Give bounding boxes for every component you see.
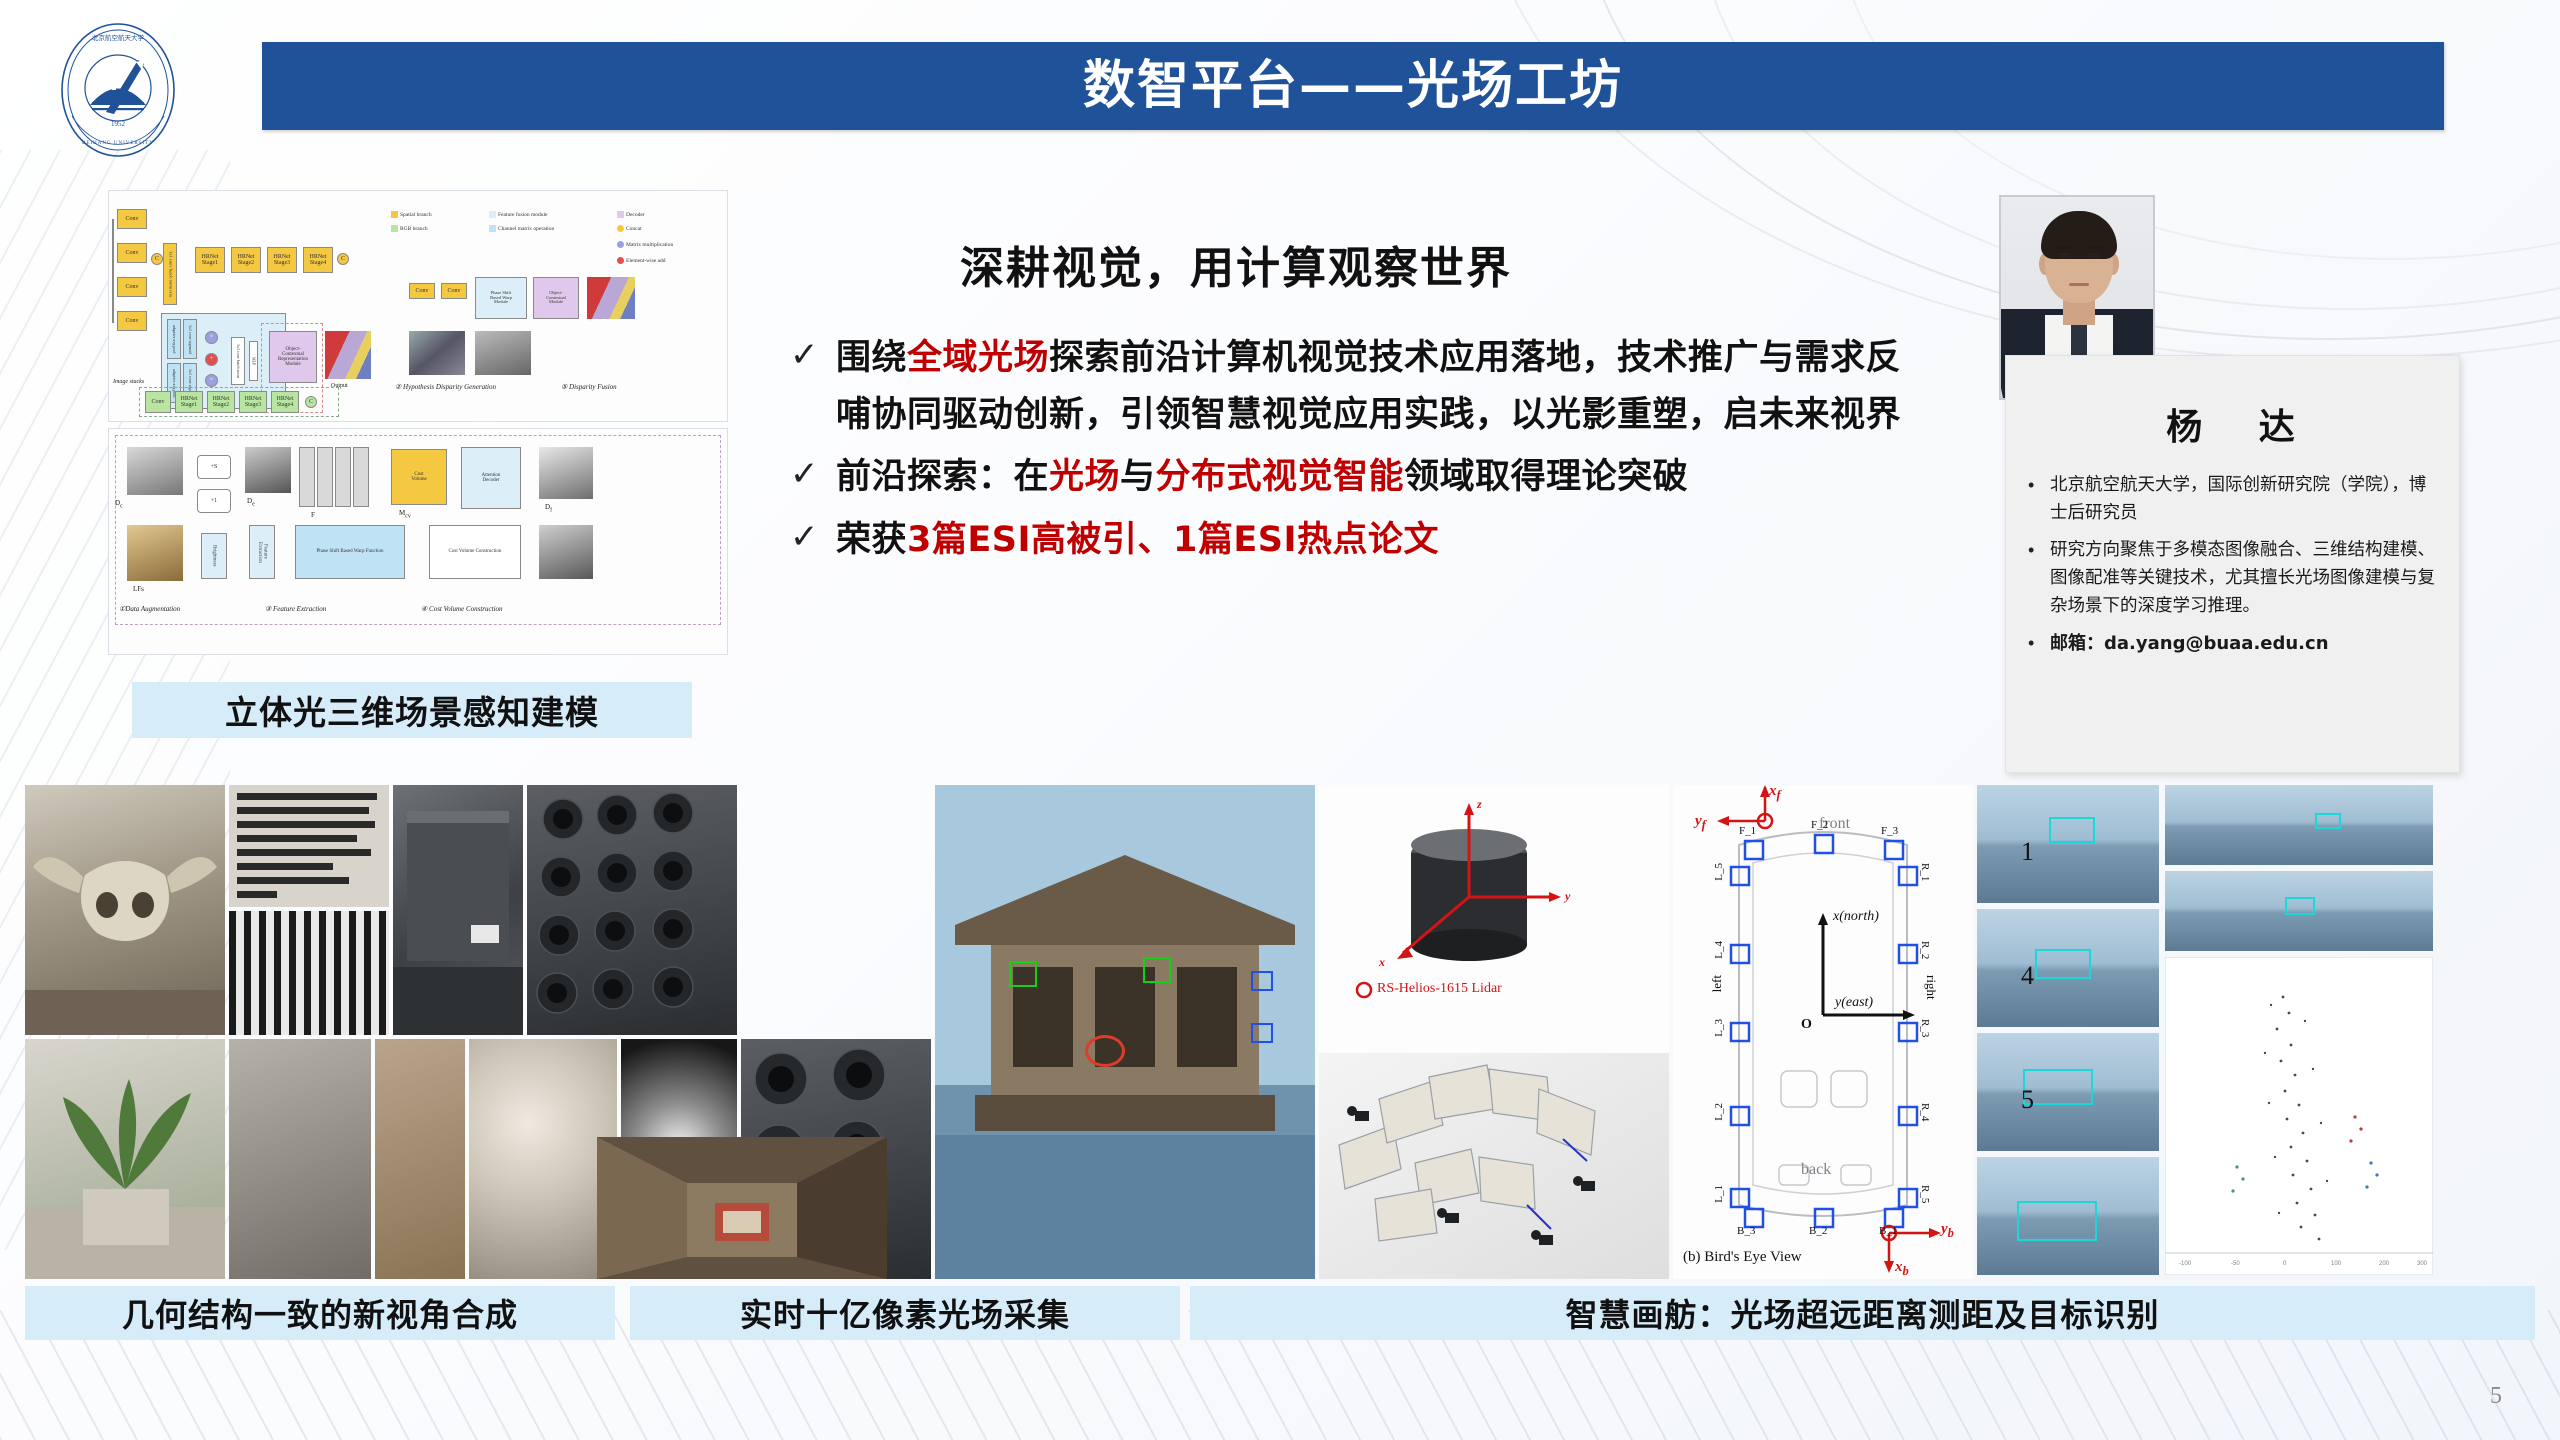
- highlight-text: 全域光场: [907, 338, 1049, 378]
- photo-detection-result-5: [1977, 1033, 2159, 1151]
- slide-root: 1952 北京航空航天大学 BEIHANG UNIVERSITY 数智平台——光…: [0, 0, 2560, 1440]
- highlight-text: 分布式视觉智能: [1156, 457, 1405, 497]
- bullet-text: 荣获3篇ESI高被引、1篇ESI热点论文: [836, 512, 1439, 569]
- photo-wood-grain: [375, 1039, 465, 1279]
- plain-text: 与: [1120, 457, 1156, 497]
- buaa-university-logo: 1952 北京航空航天大学 BEIHANG UNIVERSITY: [48, 20, 188, 160]
- plain-text: 前沿探索：在: [836, 457, 1049, 497]
- profile-detail-text: 研究方向聚焦于多模态图像融合、三维结构建模、图像配准等关键技术，尤其擅长光场图像…: [2050, 537, 2437, 620]
- plain-text: 围绕: [836, 338, 907, 378]
- page-number: 5: [2490, 1383, 2502, 1410]
- photo-boat-pavilion: [935, 785, 1315, 1279]
- photo-text-page: [229, 785, 389, 907]
- photo-room-view: [597, 1137, 887, 1279]
- bullet-dot-icon: •: [2028, 630, 2050, 658]
- profile-detail-text: 邮箱：da.yang@buaa.edu.cn: [2050, 630, 2329, 658]
- sensor-caption-b: (b) Bird's Eye View: [1683, 1249, 1802, 1266]
- svg-text:200: 200: [2379, 1261, 2390, 1267]
- svg-text:北京航空航天大学: 北京航空航天大学: [92, 33, 145, 42]
- profile-detail-text: 北京航空航天大学，国际创新研究院（学院），博士后研究员: [2050, 472, 2437, 527]
- caption-novel-view-synthesis: 几何结构一致的新视角合成: [25, 1286, 615, 1340]
- photo-equipment-box: [393, 785, 523, 1035]
- bullet-text: 前沿探索：在光场与分布式视觉智能领域取得理论突破: [836, 449, 1688, 506]
- svg-text:-100: -100: [2179, 1261, 2192, 1267]
- section-label-3d-modeling: 立体光三维场景感知建模: [132, 682, 692, 738]
- profile-detail-item: •邮箱：da.yang@buaa.edu.cn: [2028, 630, 2437, 658]
- diagram-hypothesis-disparity: Conv Conv Conv Conv 1x1 conv batch norm …: [108, 190, 728, 422]
- highlight-text: 3篇ESI高被引、1篇ESI热点论文: [907, 520, 1439, 560]
- photo-detection-result-3: [2165, 871, 2433, 951]
- caption-gigapixel-capture: 实时十亿像素光场采集: [630, 1286, 1180, 1340]
- photo-museum-skull: [25, 785, 225, 1035]
- check-icon: ✓: [790, 449, 836, 500]
- decor-arc-4: [1840, 0, 2560, 260]
- bullet-dot-icon: •: [2028, 472, 2050, 527]
- result-row-label-5: 5: [2021, 1085, 2034, 1115]
- photo-camera-array-1: [527, 785, 737, 1035]
- check-icon: ✓: [790, 512, 836, 563]
- result-row-label-4: 4: [2021, 961, 2034, 991]
- profile-detail-item: •北京航空航天大学，国际创新研究院（学院），博士后研究员: [2028, 472, 2437, 527]
- network-diagram-panel: Conv Conv Conv Conv 1x1 conv batch norm …: [108, 190, 728, 655]
- plain-text: 荣获: [836, 520, 907, 560]
- bullet-item: ✓前沿探索：在光场与分布式视觉智能领域取得理论突破: [790, 449, 1920, 506]
- plain-text: 领域取得理论突破: [1404, 457, 1688, 497]
- content-headline: 深耕视觉，用计算观察世界: [960, 232, 1512, 296]
- slide-title-bar: 数智平台——光场工坊: [262, 42, 2444, 130]
- diagram-cost-volume: Dc LFs +S +1 Brightness De FeatureExtrac…: [108, 428, 728, 655]
- photo-indoor-plant: [25, 1039, 225, 1279]
- svg-text:1952: 1952: [111, 120, 126, 128]
- svg-text:100: 100: [2331, 1261, 2342, 1267]
- bullet-text: 围绕全域光场探索前沿计算机视觉技术应用落地，技术推广与需求反哺协同驱动创新，引领…: [836, 330, 1920, 443]
- diagram-birds-eye-view: xf yf yb xb x(north) y(east) O front bac…: [1673, 785, 1973, 1279]
- photo-detection-result-4: [1977, 909, 2159, 1027]
- photo-strip: z y x RS-Helios-1615 Lidar MER2-302-56U3…: [25, 785, 2535, 1270]
- result-row-label-1: 1: [2021, 837, 2034, 867]
- diagram-multiview-cameras: [1319, 1053, 1669, 1279]
- lidar-label: RS-Helios-1615 Lidar: [1377, 981, 1502, 997]
- bullet-item: ✓围绕全域光场探索前沿计算机视觉技术应用落地，技术推广与需求反哺协同驱动创新，引…: [790, 330, 1920, 443]
- profile-detail-list: •北京航空航天大学，国际创新研究院（学院），博士后研究员•研究方向聚焦于多模态图…: [2028, 472, 2437, 659]
- photo-resolution-bars: [229, 911, 389, 1035]
- svg-text:300: 300: [2417, 1261, 2428, 1267]
- check-icon: ✓: [790, 330, 836, 381]
- bullet-dot-icon: •: [2028, 537, 2050, 620]
- photo-detection-result-6: [1977, 1157, 2159, 1275]
- page-title: 数智平台——光场工坊: [1083, 60, 1623, 112]
- bullet-item: ✓荣获3篇ESI高被引、1篇ESI热点论文: [790, 512, 1920, 569]
- highlight-text: 光场: [1049, 457, 1120, 497]
- svg-text:BEIHANG UNIVERSITY: BEIHANG UNIVERSITY: [82, 141, 154, 146]
- profile-name: 杨 达: [2046, 398, 2437, 450]
- bullet-list: ✓围绕全域光场探索前沿计算机视觉技术应用落地，技术推广与需求反哺协同驱动创新，引…: [790, 330, 1920, 575]
- profile-detail-item: •研究方向聚焦于多模态图像融合、三维结构建模、图像配准等关键技术，尤其擅长光场图…: [2028, 537, 2437, 620]
- chart-point-cloud-scatter: -100-500 100200300: [2165, 957, 2433, 1275]
- photo-detection-result-2: [2165, 785, 2433, 865]
- photo-macro-detail: [229, 1039, 371, 1279]
- photo-marble-texture: [469, 1039, 617, 1279]
- photo-detection-result-1: [1977, 785, 2159, 903]
- svg-text:-50: -50: [2231, 1261, 2240, 1267]
- profile-card: 杨 达 •北京航空航天大学，国际创新研究院（学院），博士后研究员•研究方向聚焦于…: [2005, 355, 2460, 773]
- caption-smart-boat-ranging: 智慧画舫：光场超远距离测距及目标识别: [1190, 1286, 2535, 1340]
